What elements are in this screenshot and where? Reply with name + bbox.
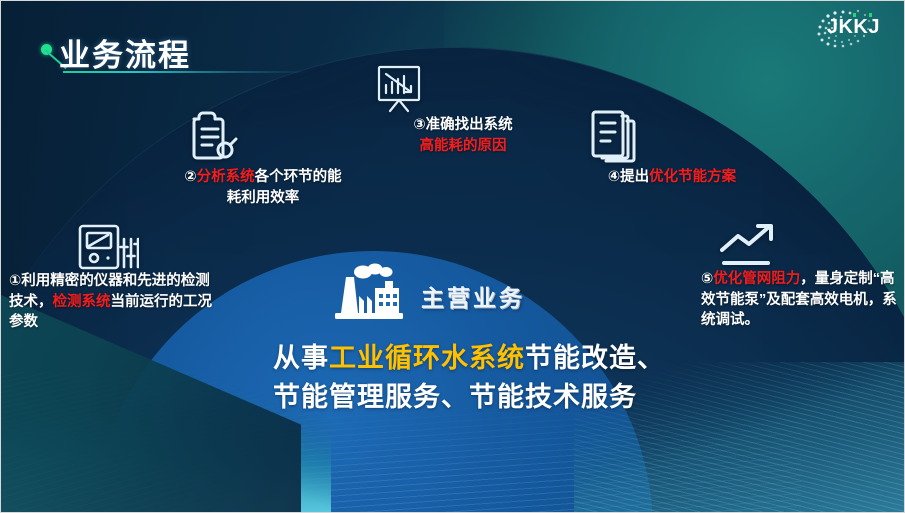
flow-item-4-text: ④提出优化节能方案 (587, 167, 757, 188)
chart-board-icon (373, 63, 553, 115)
flow-item-4[interactable]: ④提出优化节能方案 (587, 109, 757, 188)
measuring-instrument-icon (77, 223, 219, 271)
flow-item-2-text: ②分析系统各个环节的能耗利用效率 (183, 167, 343, 208)
documents-icon (587, 109, 757, 167)
main-business-description: 从事工业循环水系统节能改造、节能管理服务、节能技术服务 (273, 339, 673, 417)
slide-canvas: JKKJ 业务流程 ①利用精密的仪器和先进的检测技术，检测系统 (0, 0, 905, 513)
main-business-header: 主营业务 (331, 263, 525, 328)
company-logo: JKKJ (806, 7, 884, 49)
flow-item-1[interactable]: ①利用精密的仪器和先进的检测技术，检测系统当前运行的工况参数 (9, 223, 219, 333)
flow-item-3-text: ③准确找出系统高能耗的原因 (373, 115, 553, 156)
main-business-label: 主营业务 (421, 279, 525, 313)
flow-item-3[interactable]: ③准确找出系统高能耗的原因 (373, 63, 553, 156)
flow-item-5-text: ⑤优化管网阻力，量身定制“高效节能泵”及配套高效电机，系统调试。 (701, 269, 901, 331)
logo-text: JKKJ (827, 16, 880, 39)
trend-up-arrow-icon (717, 223, 901, 269)
clipboard-search-icon (183, 109, 343, 167)
title-label: 业务流程 (59, 30, 191, 75)
flow-item-5[interactable]: ⑤优化管网阻力，量身定制“高效节能泵”及配套高效电机，系统调试。 (701, 223, 901, 331)
flow-item-1-text: ①利用精密的仪器和先进的检测技术，检测系统当前运行的工况参数 (9, 271, 219, 333)
title-underline (63, 71, 308, 73)
flow-item-2[interactable]: ②分析系统各个环节的能耗利用效率 (183, 109, 343, 208)
factory-icon (331, 263, 407, 328)
